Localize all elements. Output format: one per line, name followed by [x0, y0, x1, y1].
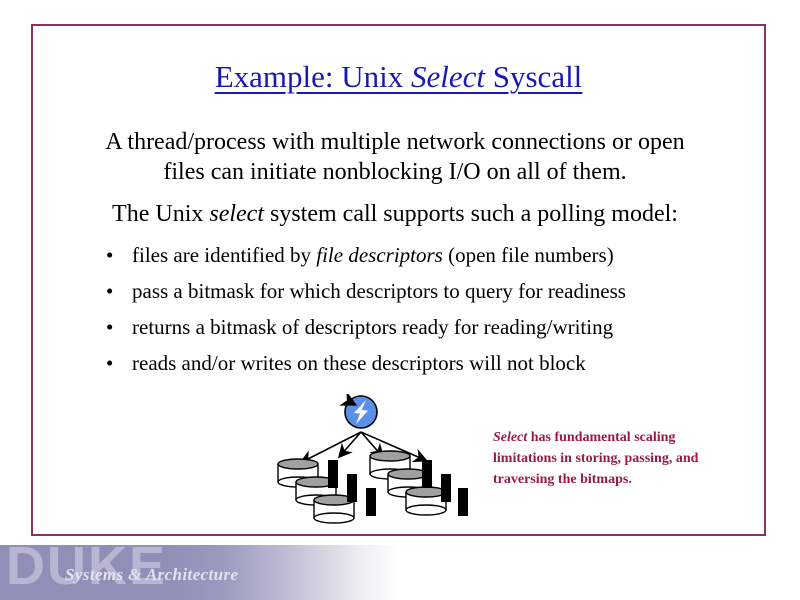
scaling-note: Select has fundamental scaling limitatio… — [493, 427, 725, 490]
bullet-marker-icon: • — [106, 241, 113, 269]
select-scaling-diagram — [262, 394, 477, 524]
list-item-prefix: pass a bitmask for which descriptors to … — [132, 279, 626, 303]
list-item-emphasis: file descriptors — [316, 243, 443, 267]
lead-in-prefix: The Unix — [112, 201, 209, 227]
bullet-marker-icon: • — [106, 349, 113, 377]
intro-paragraph: A thread/process with multiple network c… — [55, 127, 735, 187]
title-prefix: Example: Unix — [215, 59, 411, 94]
bullet-list: • files are identified by file descripto… — [100, 241, 740, 385]
title-suffix: Syscall — [485, 59, 582, 94]
slide-canvas: Example: Unix Select Syscall A thread/pr… — [0, 0, 800, 600]
bullet-marker-icon: • — [106, 313, 113, 341]
list-item: • reads and/or writes on these descripto… — [100, 349, 740, 385]
list-item-suffix: (open file numbers) — [443, 243, 614, 267]
scaling-note-line-1: has fundamental scaling — [527, 430, 675, 445]
title-emphasis: Select — [411, 59, 485, 94]
scaling-note-emphasis: Select — [493, 430, 527, 445]
list-item-prefix: returns a bitmask of descriptors ready f… — [132, 315, 613, 339]
list-item: • returns a bitmask of descriptors ready… — [100, 313, 740, 349]
page-title: Example: Unix Select Syscall — [31, 58, 766, 96]
lead-in-emphasis: select — [209, 201, 264, 227]
list-item: • files are identified by file descripto… — [100, 241, 740, 277]
bullet-marker-icon: • — [106, 277, 113, 305]
lightning-bolt-icon — [345, 396, 377, 428]
list-item: • pass a bitmask for which descriptors t… — [100, 277, 740, 313]
intro-paragraph-line-2: files can initiate nonblocking I/O on al… — [55, 157, 735, 187]
disk-stack-right — [370, 451, 446, 515]
intro-paragraph-line-1: A thread/process with multiple network c… — [105, 129, 684, 155]
scaling-note-line-2: limitations in storing, passing, — [493, 451, 672, 466]
lead-in-paragraph: The Unix select system call supports suc… — [55, 199, 735, 229]
footer-subtitle: Systems & Architecture — [65, 564, 238, 586]
list-item-prefix: reads and/or writes on these descriptors… — [132, 351, 586, 375]
list-item-prefix: files are identified by — [132, 243, 316, 267]
lead-in-suffix: system call supports such a polling mode… — [264, 201, 678, 227]
disk-stack-left — [278, 459, 354, 523]
